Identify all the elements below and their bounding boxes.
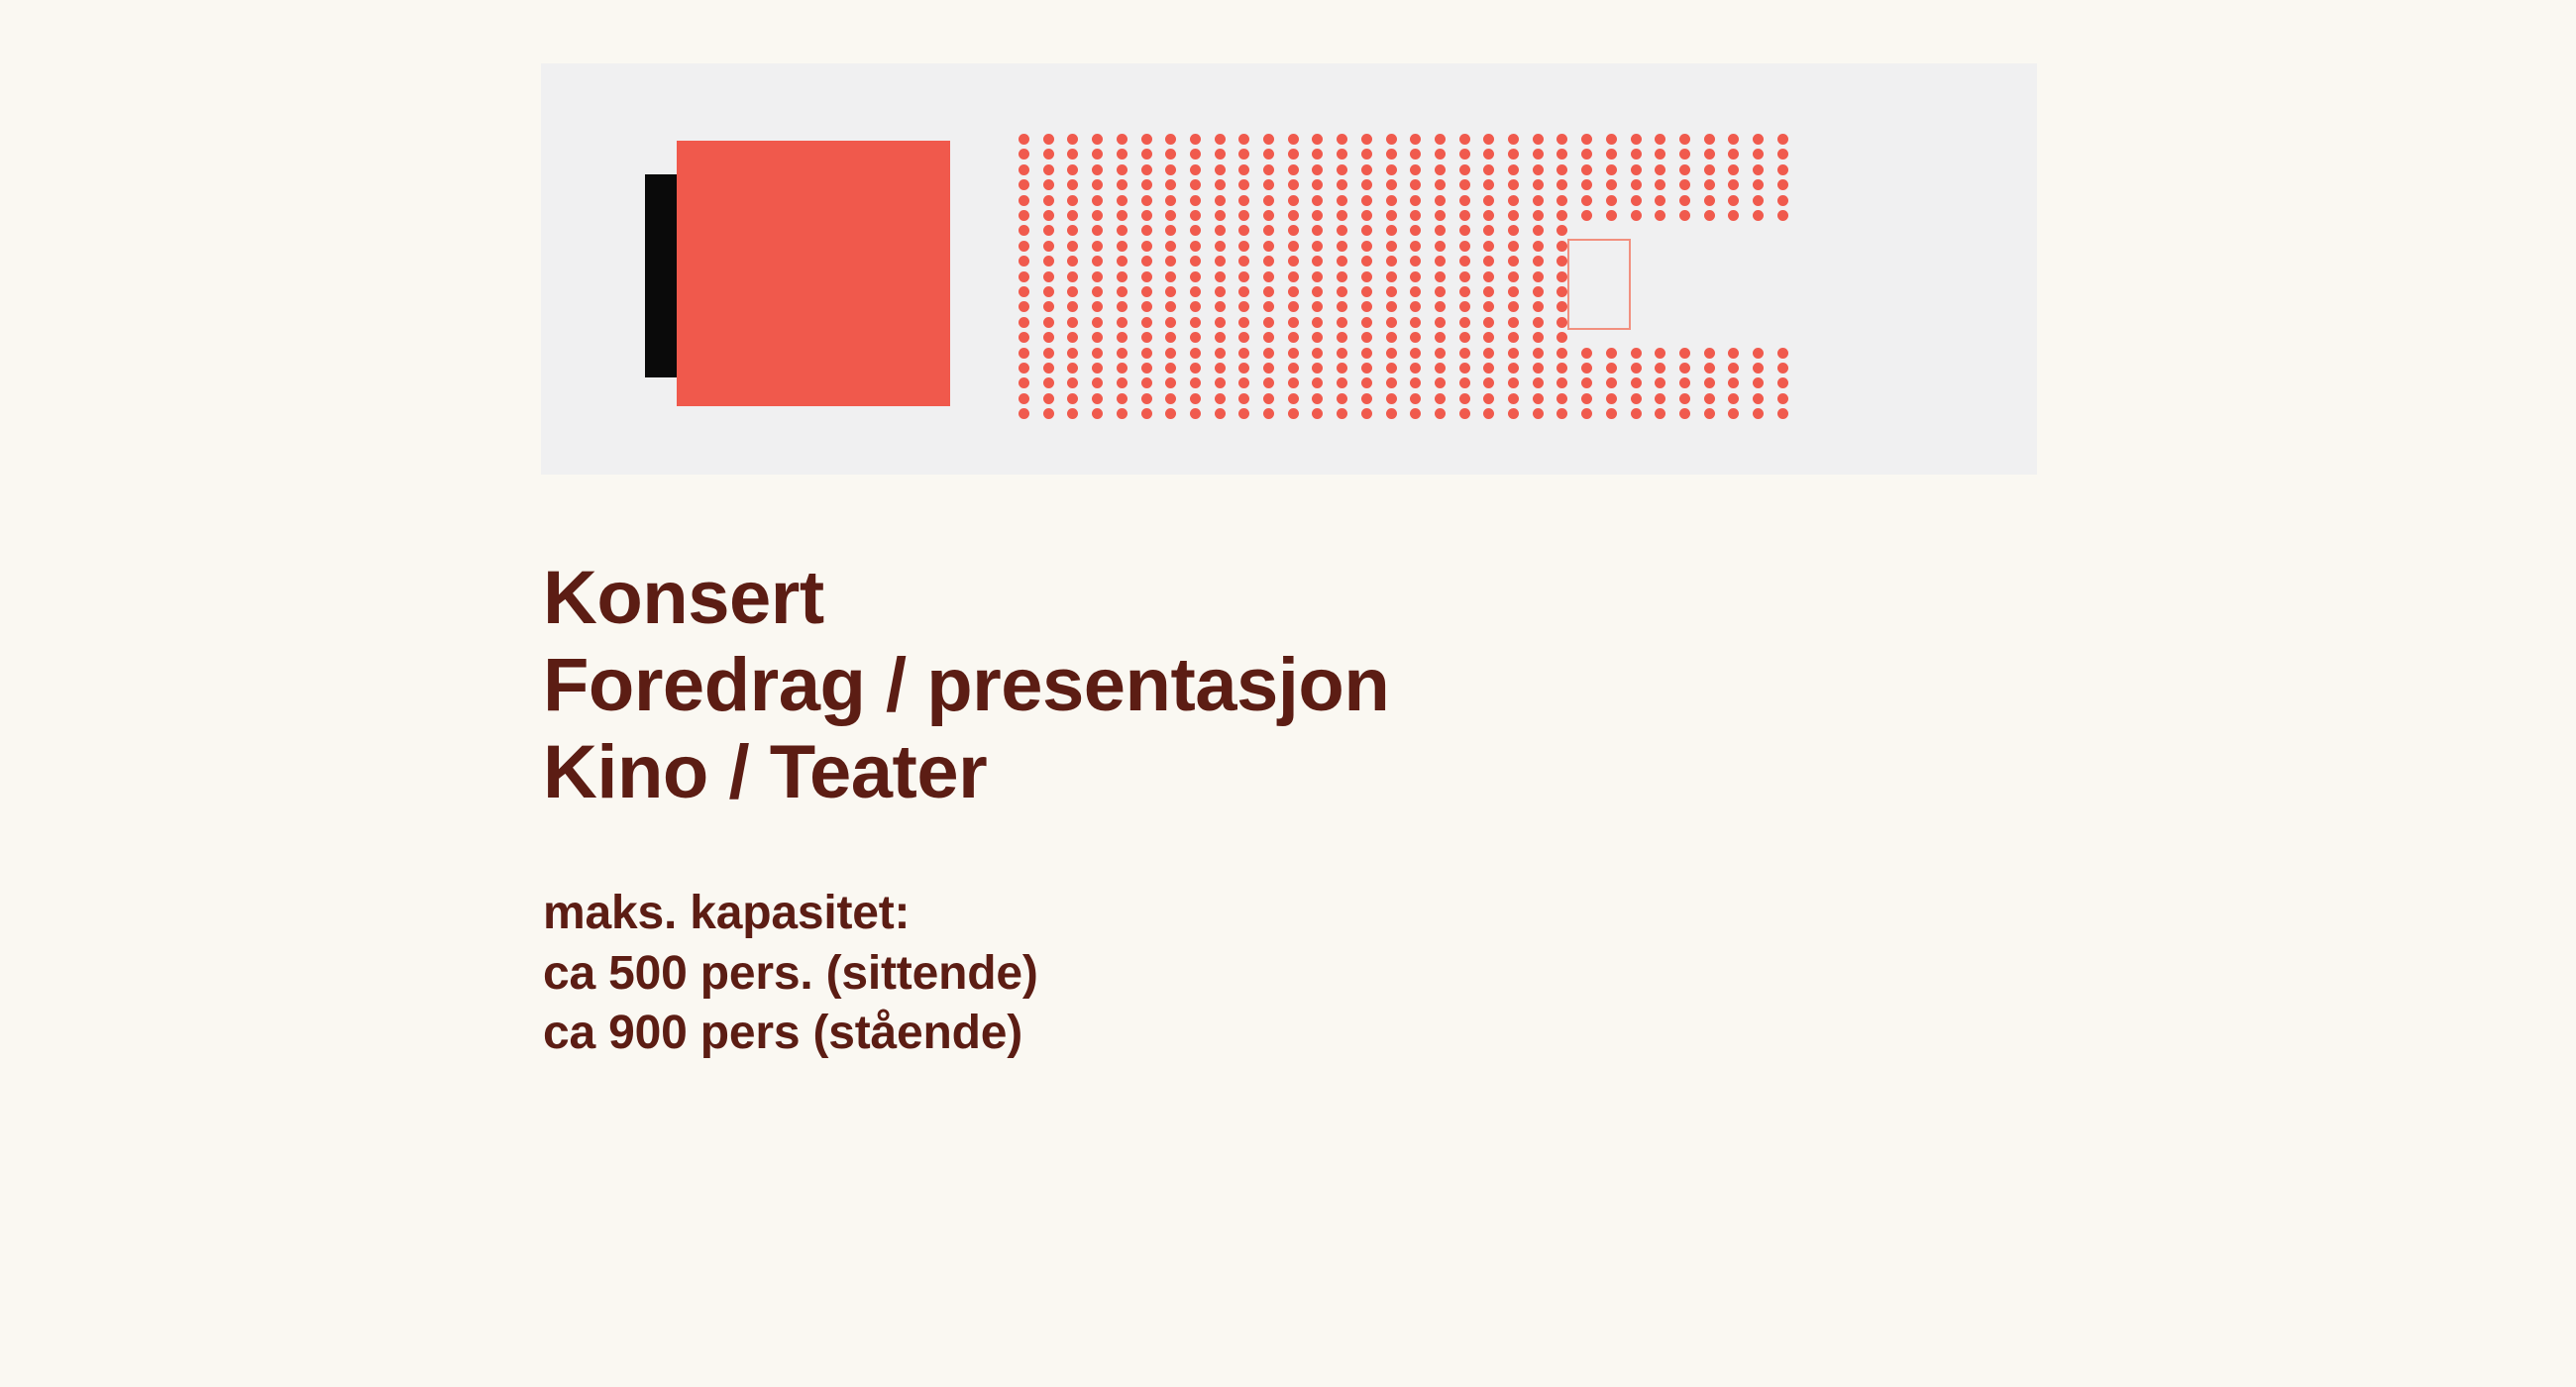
seat-dot xyxy=(1753,179,1764,190)
seat-dot xyxy=(1361,164,1372,175)
seat-dot xyxy=(1190,210,1201,221)
seat-dot xyxy=(1533,363,1544,373)
venue-usage-headings: Konsert Foredrag / presentasjon Kino / T… xyxy=(543,555,2128,816)
seat-dot xyxy=(1483,134,1494,145)
seat-dot xyxy=(1508,332,1519,343)
seat-dot xyxy=(1361,210,1372,221)
seat-dot xyxy=(1753,408,1764,419)
seat-dot xyxy=(1337,301,1347,312)
seat-dot xyxy=(1263,301,1274,312)
seat-dot xyxy=(1361,241,1372,252)
seat-dot xyxy=(1312,332,1323,343)
seat-dot xyxy=(1483,210,1494,221)
seat-dot xyxy=(1019,408,1029,419)
seat-dot xyxy=(1508,286,1519,297)
seat-dot xyxy=(1655,363,1665,373)
seat-dot xyxy=(1190,286,1201,297)
seat-dot xyxy=(1459,241,1470,252)
seat-dot xyxy=(1215,348,1226,359)
seat-dot xyxy=(1728,393,1739,404)
seat-dot xyxy=(1092,377,1103,388)
seat-dot xyxy=(1117,241,1127,252)
seat-dot xyxy=(1777,164,1788,175)
seat-dot xyxy=(1019,149,1029,160)
seat-dot xyxy=(1043,363,1054,373)
capacity-seated: ca 500 pers. (sittende) xyxy=(543,944,2128,1004)
seat-dot xyxy=(1410,332,1421,343)
seat-dot xyxy=(1386,225,1397,236)
seat-dot xyxy=(1631,179,1642,190)
seat-dot xyxy=(1288,271,1299,282)
seat-dot xyxy=(1043,301,1054,312)
seat-dot xyxy=(1581,377,1592,388)
seat-dot xyxy=(1165,195,1176,206)
seat-dot xyxy=(1092,332,1103,343)
seat-dot xyxy=(1459,363,1470,373)
seat-dot xyxy=(1215,363,1226,373)
seat-dot xyxy=(1312,256,1323,267)
seat-dot xyxy=(1655,377,1665,388)
seat-dot xyxy=(1386,363,1397,373)
seat-dot xyxy=(1435,179,1446,190)
seat-dot xyxy=(1117,286,1127,297)
seat-dot xyxy=(1386,241,1397,252)
seat-dot xyxy=(1581,195,1592,206)
seat-dot xyxy=(1435,363,1446,373)
seat-dot xyxy=(1581,134,1592,145)
seat-dot xyxy=(1288,301,1299,312)
seat-dot xyxy=(1215,377,1226,388)
seat-dot xyxy=(1533,301,1544,312)
seat-dot xyxy=(1117,134,1127,145)
seat-dot xyxy=(1165,179,1176,190)
seat-dot xyxy=(1312,241,1323,252)
seat-dot xyxy=(1361,348,1372,359)
seat-dot xyxy=(1288,195,1299,206)
seat-dot xyxy=(1019,241,1029,252)
seat-dot xyxy=(1483,377,1494,388)
seat-dot xyxy=(1556,377,1567,388)
seat-dot xyxy=(1019,286,1029,297)
seat-dot xyxy=(1606,408,1617,419)
seat-dot xyxy=(1556,271,1567,282)
seat-dot xyxy=(1631,408,1642,419)
seat-dot xyxy=(1483,149,1494,160)
seat-dot xyxy=(1508,195,1519,206)
seat-dot xyxy=(1679,195,1690,206)
seat-dot xyxy=(1215,241,1226,252)
seat-dot xyxy=(1117,179,1127,190)
seat-dot xyxy=(1435,377,1446,388)
seat-dot xyxy=(1190,408,1201,419)
seat-dot xyxy=(1533,271,1544,282)
seat-dot xyxy=(1043,317,1054,328)
seat-dot xyxy=(1533,408,1544,419)
seat-dot xyxy=(1238,241,1249,252)
seat-dot xyxy=(1165,149,1176,160)
seat-dot xyxy=(1533,195,1544,206)
seat-dot xyxy=(1581,363,1592,373)
seat-dot xyxy=(1361,286,1372,297)
seat-dot xyxy=(1067,241,1078,252)
seat-dot xyxy=(1606,363,1617,373)
seat-dot xyxy=(1361,225,1372,236)
seat-dot xyxy=(1019,164,1029,175)
seat-dot xyxy=(1337,348,1347,359)
seat-dot xyxy=(1141,377,1152,388)
seat-dot xyxy=(1606,348,1617,359)
seat-dot xyxy=(1631,363,1642,373)
seat-dot xyxy=(1238,210,1249,221)
seat-dot xyxy=(1165,225,1176,236)
seat-dot xyxy=(1067,301,1078,312)
seat-dot xyxy=(1117,256,1127,267)
seat-dot xyxy=(1190,317,1201,328)
seat-dot xyxy=(1753,363,1764,373)
seat-dot xyxy=(1337,317,1347,328)
seat-dot xyxy=(1435,241,1446,252)
seat-dot xyxy=(1312,149,1323,160)
seat-dot xyxy=(1215,256,1226,267)
seat-dot xyxy=(1067,286,1078,297)
seat-dot xyxy=(1777,393,1788,404)
seat-dot xyxy=(1263,286,1274,297)
seat-dot xyxy=(1067,195,1078,206)
seat-dot xyxy=(1190,348,1201,359)
seat-dot xyxy=(1533,225,1544,236)
seat-dot xyxy=(1361,149,1372,160)
seat-dot xyxy=(1679,179,1690,190)
seat-dot xyxy=(1165,363,1176,373)
seat-dot xyxy=(1238,271,1249,282)
seat-dot xyxy=(1141,393,1152,404)
audience-seat-grid xyxy=(1019,134,1777,426)
seat-dot xyxy=(1312,393,1323,404)
seat-dot xyxy=(1753,149,1764,160)
seat-dot xyxy=(1288,256,1299,267)
seat-dot xyxy=(1483,317,1494,328)
seat-dot xyxy=(1631,348,1642,359)
seat-dot xyxy=(1238,195,1249,206)
seat-dot xyxy=(1386,332,1397,343)
seat-dot xyxy=(1361,377,1372,388)
seat-dot xyxy=(1533,393,1544,404)
seat-dot xyxy=(1215,134,1226,145)
seat-dot xyxy=(1728,210,1739,221)
seat-dot xyxy=(1263,393,1274,404)
seat-dot xyxy=(1141,195,1152,206)
seat-dot xyxy=(1190,332,1201,343)
seat-dot xyxy=(1508,210,1519,221)
seat-dot xyxy=(1459,225,1470,236)
seat-dot xyxy=(1043,332,1054,343)
seat-dot xyxy=(1508,393,1519,404)
seat-dot xyxy=(1655,179,1665,190)
seat-dot xyxy=(1606,195,1617,206)
seat-dot xyxy=(1361,332,1372,343)
seat-dot xyxy=(1067,134,1078,145)
seat-dot xyxy=(1117,225,1127,236)
seat-dot xyxy=(1704,149,1715,160)
seat-dot xyxy=(1361,301,1372,312)
seat-dot xyxy=(1728,149,1739,160)
seat-dot xyxy=(1238,393,1249,404)
seat-dot xyxy=(1092,241,1103,252)
seat-dot xyxy=(1728,195,1739,206)
seat-dot xyxy=(1337,377,1347,388)
seat-dot xyxy=(1092,134,1103,145)
seat-dot xyxy=(1679,363,1690,373)
seat-dot xyxy=(1556,149,1567,160)
seat-dot xyxy=(1141,164,1152,175)
seat-dot xyxy=(1288,348,1299,359)
seat-dot xyxy=(1508,149,1519,160)
seat-dot xyxy=(1777,363,1788,373)
seat-dot xyxy=(1556,332,1567,343)
seat-dot xyxy=(1386,408,1397,419)
seat-dot xyxy=(1410,256,1421,267)
seat-dot xyxy=(1533,134,1544,145)
seat-dot xyxy=(1019,256,1029,267)
seat-dot xyxy=(1581,149,1592,160)
seat-dot xyxy=(1288,164,1299,175)
seat-dot xyxy=(1459,134,1470,145)
seat-dot xyxy=(1165,271,1176,282)
seat-dot xyxy=(1508,179,1519,190)
seat-dot xyxy=(1092,363,1103,373)
seat-dot xyxy=(1483,393,1494,404)
heading-line-1: Konsert xyxy=(543,555,2128,642)
seat-dot xyxy=(1508,164,1519,175)
seat-dot xyxy=(1655,195,1665,206)
seat-dot xyxy=(1483,195,1494,206)
seat-dot xyxy=(1361,134,1372,145)
seat-dot xyxy=(1067,225,1078,236)
seat-dot xyxy=(1410,301,1421,312)
seat-dot xyxy=(1508,241,1519,252)
seat-dot xyxy=(1067,393,1078,404)
seat-dot xyxy=(1337,241,1347,252)
seat-dot xyxy=(1312,377,1323,388)
seat-dot xyxy=(1043,164,1054,175)
seat-dot xyxy=(1117,149,1127,160)
capacity-standing: ca 900 pers (stående) xyxy=(543,1004,2128,1063)
seat-dot xyxy=(1215,286,1226,297)
seat-dot xyxy=(1190,256,1201,267)
seat-dot xyxy=(1533,179,1544,190)
seat-dot xyxy=(1092,256,1103,267)
seat-dot xyxy=(1337,210,1347,221)
seat-dot xyxy=(1141,408,1152,419)
seat-dot xyxy=(1508,256,1519,267)
seat-dot xyxy=(1337,256,1347,267)
seat-dot xyxy=(1631,210,1642,221)
seat-dot xyxy=(1263,332,1274,343)
seat-dot xyxy=(1753,134,1764,145)
seat-dot xyxy=(1410,225,1421,236)
seat-dot xyxy=(1533,286,1544,297)
seat-dot xyxy=(1141,348,1152,359)
seat-dot xyxy=(1190,241,1201,252)
seat-dot xyxy=(1238,317,1249,328)
seat-dot xyxy=(1679,134,1690,145)
seat-dot xyxy=(1215,195,1226,206)
seat-dot xyxy=(1337,408,1347,419)
stage-block xyxy=(677,141,950,406)
seat-dot xyxy=(1165,241,1176,252)
seat-dot xyxy=(1238,134,1249,145)
seat-dot xyxy=(1337,195,1347,206)
seat-dot xyxy=(1043,179,1054,190)
seat-dot xyxy=(1435,195,1446,206)
seat-dot xyxy=(1117,348,1127,359)
seat-dot xyxy=(1361,195,1372,206)
seat-dot xyxy=(1483,286,1494,297)
seat-dot xyxy=(1435,256,1446,267)
seat-dot xyxy=(1141,241,1152,252)
seat-dot xyxy=(1361,408,1372,419)
seat-dot xyxy=(1556,134,1567,145)
seat-dot xyxy=(1263,225,1274,236)
seat-dot xyxy=(1459,348,1470,359)
seat-dot xyxy=(1019,317,1029,328)
seat-dot xyxy=(1092,317,1103,328)
seat-dot xyxy=(1190,271,1201,282)
seat-dot xyxy=(1386,210,1397,221)
seat-dot xyxy=(1435,149,1446,160)
seat-dot xyxy=(1043,210,1054,221)
seat-dot xyxy=(1386,271,1397,282)
seat-dot xyxy=(1606,134,1617,145)
seat-dot xyxy=(1655,348,1665,359)
seat-dot xyxy=(1728,348,1739,359)
seat-dot xyxy=(1533,332,1544,343)
seat-dot xyxy=(1410,134,1421,145)
seat-dot xyxy=(1043,134,1054,145)
seat-dot xyxy=(1631,393,1642,404)
seat-dot xyxy=(1165,210,1176,221)
seat-dot xyxy=(1410,241,1421,252)
seat-dot xyxy=(1092,301,1103,312)
seat-dot xyxy=(1459,408,1470,419)
seat-dot xyxy=(1533,164,1544,175)
seat-dot xyxy=(1288,149,1299,160)
venue-capacity-block: maks. kapasitet: ca 500 pers. (sittende)… xyxy=(543,884,2128,1063)
seat-dot xyxy=(1631,149,1642,160)
seat-dot xyxy=(1141,134,1152,145)
seat-dot xyxy=(1141,286,1152,297)
seat-dot xyxy=(1238,149,1249,160)
seat-dot xyxy=(1019,348,1029,359)
seat-dot xyxy=(1606,377,1617,388)
seat-dot xyxy=(1067,256,1078,267)
seat-dot xyxy=(1165,332,1176,343)
seat-dot xyxy=(1337,271,1347,282)
seat-dot xyxy=(1508,225,1519,236)
seat-dot xyxy=(1165,393,1176,404)
seat-dot xyxy=(1238,179,1249,190)
seat-dot xyxy=(1165,301,1176,312)
seat-dot xyxy=(1190,195,1201,206)
seat-dot xyxy=(1263,408,1274,419)
seat-dot xyxy=(1483,363,1494,373)
seat-dot xyxy=(1165,164,1176,175)
seat-dot xyxy=(1337,149,1347,160)
seat-dot xyxy=(1410,393,1421,404)
seat-dot xyxy=(1533,317,1544,328)
seat-dot xyxy=(1067,210,1078,221)
seat-dot xyxy=(1263,363,1274,373)
seat-dot xyxy=(1117,408,1127,419)
seat-dot xyxy=(1263,179,1274,190)
seat-dot xyxy=(1410,348,1421,359)
seat-dot xyxy=(1606,210,1617,221)
seat-dot xyxy=(1117,271,1127,282)
seat-dot xyxy=(1019,225,1029,236)
seat-dot xyxy=(1361,317,1372,328)
seat-dot xyxy=(1312,225,1323,236)
seat-dot xyxy=(1288,363,1299,373)
seat-dot xyxy=(1337,179,1347,190)
seat-dot xyxy=(1312,210,1323,221)
seat-dot xyxy=(1263,210,1274,221)
seat-dot xyxy=(1092,195,1103,206)
seat-dot xyxy=(1361,393,1372,404)
seat-dot xyxy=(1704,179,1715,190)
seat-dot xyxy=(1312,408,1323,419)
seat-dot xyxy=(1533,377,1544,388)
seat-dot xyxy=(1215,271,1226,282)
seat-dot xyxy=(1043,225,1054,236)
seat-dot xyxy=(1533,256,1544,267)
seat-dot xyxy=(1092,210,1103,221)
seat-dot xyxy=(1704,134,1715,145)
seat-dot xyxy=(1508,271,1519,282)
seat-dot xyxy=(1728,363,1739,373)
seat-dot xyxy=(1067,408,1078,419)
seat-dot xyxy=(1190,377,1201,388)
seat-dot xyxy=(1337,164,1347,175)
seat-dot xyxy=(1312,363,1323,373)
seat-dot xyxy=(1117,377,1127,388)
seat-dot xyxy=(1215,225,1226,236)
heading-line-2: Foredrag / presentasjon xyxy=(543,642,2128,729)
seat-dot xyxy=(1019,210,1029,221)
seat-dot xyxy=(1655,134,1665,145)
seat-dot xyxy=(1215,317,1226,328)
seat-dot xyxy=(1655,164,1665,175)
seat-dot xyxy=(1141,225,1152,236)
seat-dot xyxy=(1117,363,1127,373)
seat-dot xyxy=(1141,317,1152,328)
seat-dot xyxy=(1631,195,1642,206)
seat-dot xyxy=(1704,393,1715,404)
seat-dot xyxy=(1435,225,1446,236)
seat-dot xyxy=(1655,393,1665,404)
seat-dot xyxy=(1386,179,1397,190)
seat-dot xyxy=(1312,348,1323,359)
seat-dot xyxy=(1361,179,1372,190)
seat-dot xyxy=(1386,317,1397,328)
seat-dot xyxy=(1337,363,1347,373)
seat-dot xyxy=(1679,164,1690,175)
seat-dot xyxy=(1238,332,1249,343)
seat-dot xyxy=(1215,393,1226,404)
seat-dot xyxy=(1410,317,1421,328)
stage-backdrop-bar xyxy=(645,174,677,377)
seat-dot xyxy=(1410,149,1421,160)
seat-dot xyxy=(1263,256,1274,267)
